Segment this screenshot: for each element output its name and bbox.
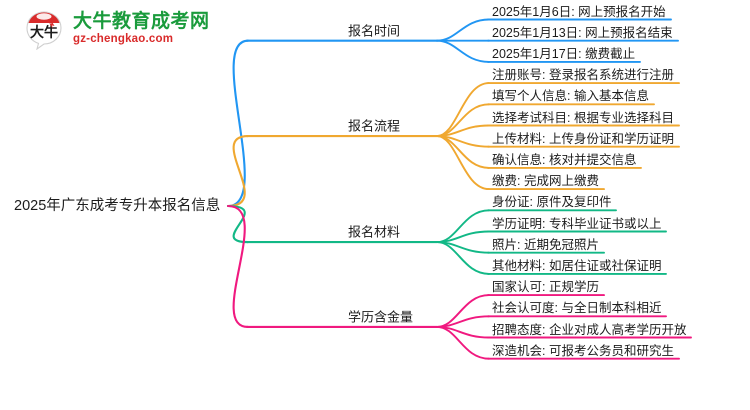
mindmap-leaf-node[interactable]: 选择考试科目: 根据专业选择科目 (492, 112, 674, 125)
mindmap-leaf-node[interactable]: 确认信息: 核对并提交信息 (492, 154, 636, 167)
mindmap-leaf-node[interactable]: 学历证明: 专科毕业证书或以上 (492, 218, 661, 231)
root-node-label[interactable]: 2025年广东成考专升本报名信息 (14, 199, 220, 214)
mindmap-leaf-node[interactable]: 填写个人信息: 输入基本信息 (492, 90, 649, 103)
mindmap-leaf-node[interactable]: 其他材料: 如居住证或社保证明 (492, 260, 661, 273)
mindmap-branch-label[interactable]: 报名时间 (348, 24, 400, 37)
mindmap-leaf-node[interactable]: 缴费: 完成网上缴费 (492, 175, 599, 188)
mindmap-branch-label[interactable]: 报名材料 (348, 226, 400, 239)
mindmap-leaf-node[interactable]: 2025年1月13日: 网上预报名结束 (492, 27, 673, 40)
mindmap-leaf-node[interactable]: 国家认可: 正规学历 (492, 281, 599, 294)
mindmap-leaf-node[interactable]: 深造机会: 可报考公务员和研究生 (492, 345, 674, 358)
mindmap-leaf-node[interactable]: 身份证: 原件及复印件 (492, 196, 611, 209)
mindmap-leaf-node[interactable]: 上传材料: 上传身份证和学历证明 (492, 133, 674, 146)
mindmap-leaf-node[interactable]: 社会认可度: 与全日制本科相近 (492, 302, 661, 315)
mindmap-branch-label[interactable]: 学历含金量 (348, 310, 413, 323)
mindmap-leaf-node[interactable]: 照片: 近期免冠照片 (492, 239, 599, 252)
mindmap-leaf-node[interactable]: 招聘态度: 企业对成人高考学历开放 (492, 324, 686, 337)
mindmap-branch-label[interactable]: 报名流程 (348, 120, 400, 133)
mindmap-leaf-node[interactable]: 注册账号: 登录报名系统进行注册 (492, 69, 674, 82)
mindmap-leaf-node[interactable]: 2025年1月6日: 网上预报名开始 (492, 6, 666, 19)
mindmap-leaf-node[interactable]: 2025年1月17日: 缴费截止 (492, 48, 635, 61)
